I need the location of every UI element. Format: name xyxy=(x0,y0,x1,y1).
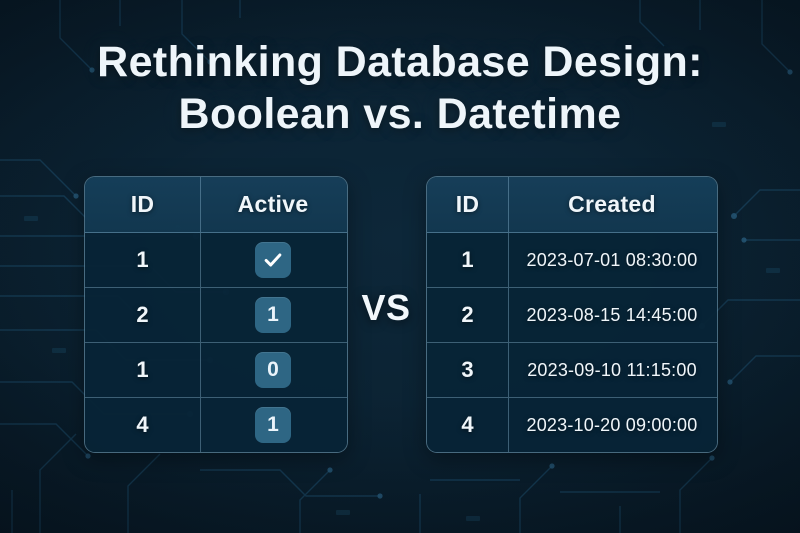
boolean-table: ID Active 1 2 1 1 0 4 1 xyxy=(84,176,348,453)
title-line-1: Rethinking Database Design: xyxy=(0,36,800,88)
slide-canvas: Rethinking Database Design: Boolean vs. … xyxy=(0,0,800,533)
table-row[interactable]: 3 2023-09-10 11:15:00 xyxy=(427,343,717,398)
value-badge: 1 xyxy=(255,407,291,443)
cell-id: 2 xyxy=(85,288,201,342)
table-row[interactable]: 1 2023-07-01 08:30:00 xyxy=(427,233,717,288)
cell-id: 4 xyxy=(85,398,201,452)
cell-id: 1 xyxy=(85,233,201,287)
cell-id: 2 xyxy=(427,288,509,342)
cell-active xyxy=(201,233,345,287)
cell-created: 2023-07-01 08:30:00 xyxy=(509,233,715,287)
check-icon xyxy=(255,242,291,278)
table-header-row: ID Created xyxy=(427,177,717,233)
table-row[interactable]: 1 xyxy=(85,233,347,288)
column-header-created: Created xyxy=(509,177,715,232)
cell-active: 0 xyxy=(201,343,345,397)
column-header-active: Active xyxy=(201,177,345,232)
table-row[interactable]: 4 2023-10-20 09:00:00 xyxy=(427,398,717,452)
cell-id: 1 xyxy=(85,343,201,397)
cell-created: 2023-09-10 11:15:00 xyxy=(509,343,715,397)
versus-label: VS xyxy=(346,287,426,329)
column-header-id: ID xyxy=(85,177,201,232)
page-title: Rethinking Database Design: Boolean vs. … xyxy=(0,36,800,140)
cell-created: 2023-10-20 09:00:00 xyxy=(509,398,715,452)
cell-id: 3 xyxy=(427,343,509,397)
value-badge: 1 xyxy=(255,297,291,333)
title-line-2: Boolean vs. Datetime xyxy=(0,88,800,140)
table-row[interactable]: 2 1 xyxy=(85,288,347,343)
table-row[interactable]: 4 1 xyxy=(85,398,347,452)
table-header-row: ID Active xyxy=(85,177,347,233)
datetime-table: ID Created 1 2023-07-01 08:30:00 2 2023-… xyxy=(426,176,718,453)
cell-id: 4 xyxy=(427,398,509,452)
value-badge: 0 xyxy=(255,352,291,388)
cell-active: 1 xyxy=(201,398,345,452)
cell-created: 2023-08-15 14:45:00 xyxy=(509,288,715,342)
column-header-id: ID xyxy=(427,177,509,232)
table-row[interactable]: 1 0 xyxy=(85,343,347,398)
table-row[interactable]: 2 2023-08-15 14:45:00 xyxy=(427,288,717,343)
cell-active: 1 xyxy=(201,288,345,342)
cell-id: 1 xyxy=(427,233,509,287)
